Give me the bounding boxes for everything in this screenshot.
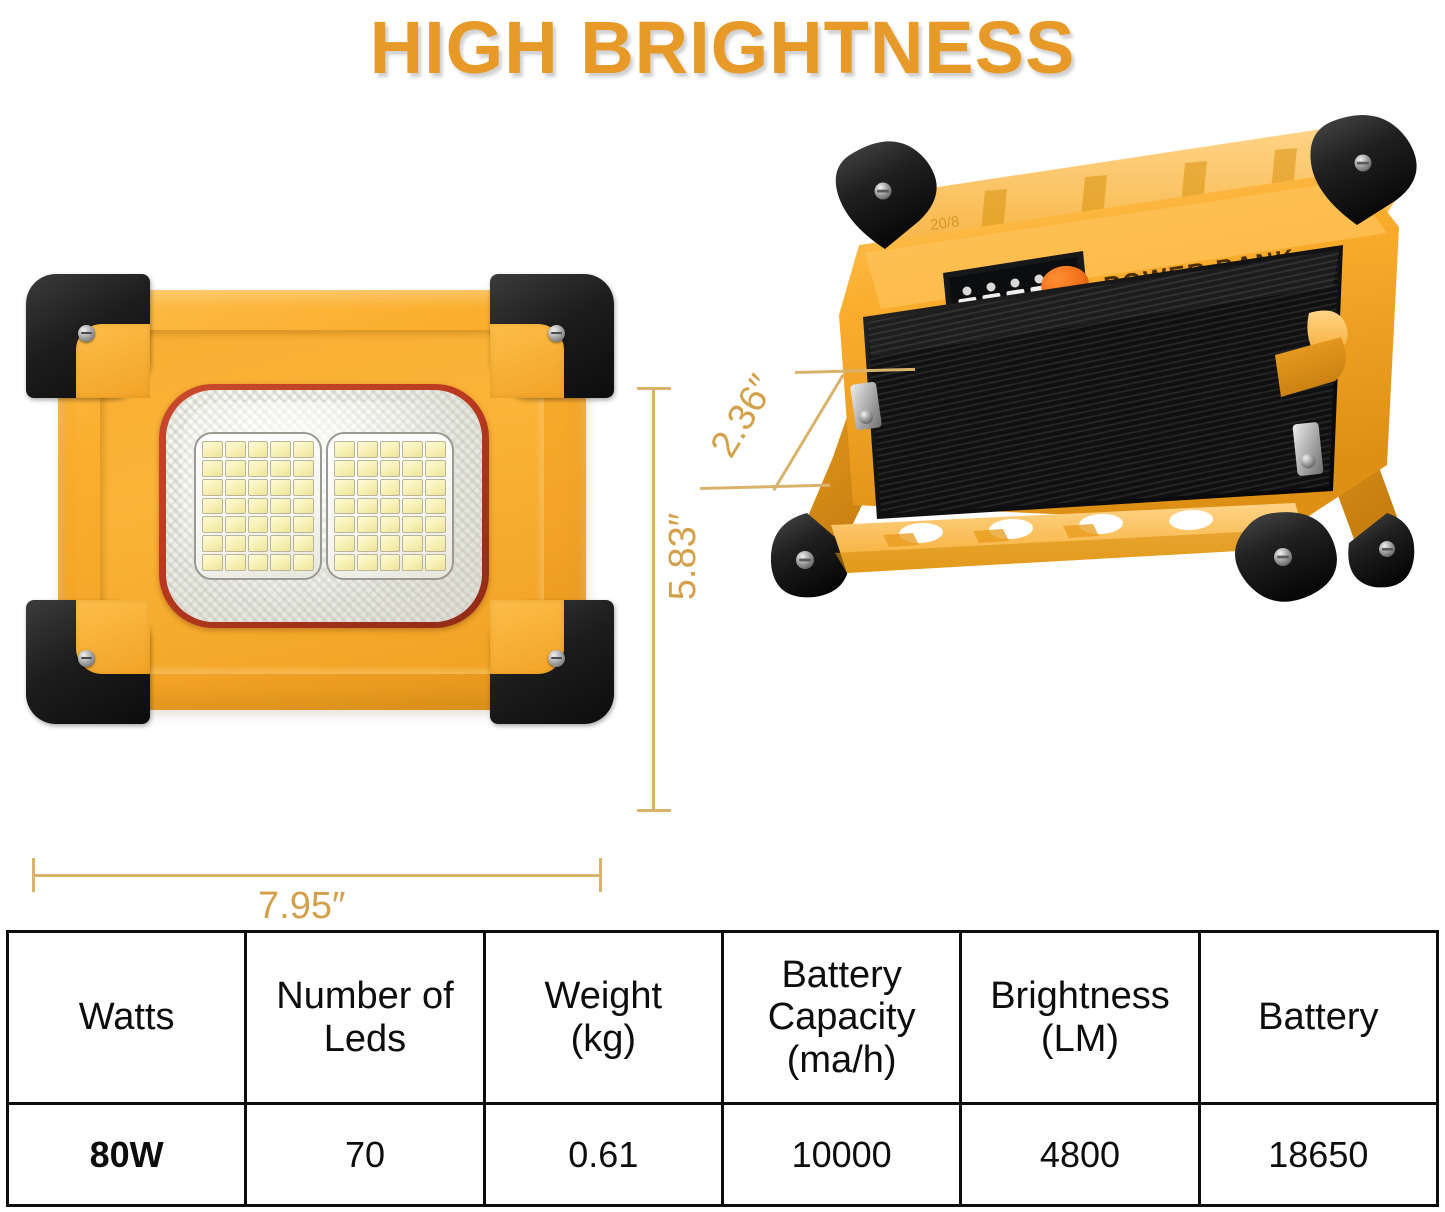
cell-battery: 18650 bbox=[1199, 1104, 1437, 1206]
led-chip bbox=[270, 498, 291, 515]
led-chip bbox=[270, 460, 291, 477]
height-tick-top bbox=[637, 387, 671, 390]
led-chip bbox=[225, 535, 246, 552]
led-chip bbox=[402, 516, 423, 533]
product-front-view bbox=[20, 270, 620, 730]
led-chip bbox=[334, 554, 355, 571]
led-chip bbox=[293, 460, 314, 477]
led-chip bbox=[225, 479, 246, 496]
led-chip bbox=[293, 535, 314, 552]
led-chip bbox=[402, 498, 423, 515]
led-chip bbox=[202, 535, 223, 552]
cell-weight: 0.61 bbox=[484, 1104, 722, 1206]
cell-watts: 80W bbox=[8, 1104, 246, 1206]
led-chip bbox=[380, 554, 401, 571]
led-chip bbox=[357, 479, 378, 496]
led-chip bbox=[270, 535, 291, 552]
led-chip bbox=[402, 441, 423, 458]
table-header-number-of-leds: Number ofLeds bbox=[246, 932, 484, 1104]
product-image-stage: 20/8 bbox=[0, 95, 1445, 930]
led-chip bbox=[202, 498, 223, 515]
product-back-view: 20/8 bbox=[735, 105, 1435, 615]
led-chip bbox=[357, 498, 378, 515]
table-header-weight: Weight(kg) bbox=[484, 932, 722, 1104]
led-chip bbox=[293, 479, 314, 496]
led-chip bbox=[357, 516, 378, 533]
led-module-right bbox=[326, 432, 454, 580]
led-chip bbox=[425, 479, 446, 496]
screw-icon bbox=[78, 325, 95, 342]
led-chip bbox=[248, 441, 269, 458]
led-chip bbox=[380, 479, 401, 496]
led-chip bbox=[425, 441, 446, 458]
led-chip bbox=[425, 460, 446, 477]
led-chip bbox=[293, 441, 314, 458]
screw-icon bbox=[548, 650, 565, 667]
led-chip bbox=[202, 441, 223, 458]
table-header-watts: Watts bbox=[8, 932, 246, 1104]
led-chip bbox=[380, 441, 401, 458]
led-chip bbox=[202, 479, 223, 496]
led-chip bbox=[380, 460, 401, 477]
led-chip bbox=[270, 516, 291, 533]
led-chip bbox=[357, 460, 378, 477]
led-chip bbox=[402, 535, 423, 552]
led-chip bbox=[270, 441, 291, 458]
led-chip bbox=[248, 498, 269, 515]
table-header-row: Watts Number ofLeds Weight(kg) BatteryCa… bbox=[8, 932, 1438, 1104]
led-chip bbox=[357, 554, 378, 571]
led-chip bbox=[380, 535, 401, 552]
led-chip bbox=[425, 554, 446, 571]
led-chip bbox=[248, 554, 269, 571]
led-chip bbox=[202, 554, 223, 571]
led-chip bbox=[402, 460, 423, 477]
led-chip bbox=[293, 554, 314, 571]
led-chip bbox=[225, 554, 246, 571]
led-chip bbox=[357, 535, 378, 552]
led-chip bbox=[402, 479, 423, 496]
screw-icon bbox=[78, 650, 95, 667]
led-chip bbox=[425, 516, 446, 533]
led-chip bbox=[202, 516, 223, 533]
led-chip bbox=[425, 498, 446, 515]
table-header-brightness: Brightness(LM) bbox=[961, 932, 1199, 1104]
height-dimension-label: 5.83″ bbox=[662, 513, 705, 600]
led-chip bbox=[225, 498, 246, 515]
screw-icon bbox=[548, 325, 565, 342]
lens-diffuser bbox=[166, 390, 482, 622]
led-chip bbox=[334, 498, 355, 515]
page-title: HIGH BRIGHTNESS bbox=[370, 11, 1076, 85]
led-chip bbox=[425, 535, 446, 552]
led-chip bbox=[248, 479, 269, 496]
led-chip bbox=[202, 460, 223, 477]
cell-brightness: 4800 bbox=[961, 1104, 1199, 1206]
cell-battery-capacity: 10000 bbox=[722, 1104, 960, 1206]
cell-number-of-leds: 70 bbox=[246, 1104, 484, 1206]
led-chip bbox=[293, 516, 314, 533]
led-chip bbox=[334, 441, 355, 458]
led-chip bbox=[334, 516, 355, 533]
led-chip bbox=[270, 479, 291, 496]
led-chip bbox=[270, 554, 291, 571]
led-chip bbox=[248, 516, 269, 533]
width-tick-left bbox=[32, 858, 35, 892]
table-row: 80W 70 0.61 10000 4800 18650 bbox=[8, 1104, 1438, 1206]
led-chip bbox=[380, 516, 401, 533]
title-bar: HIGH BRIGHTNESS bbox=[0, 0, 1445, 95]
led-chip bbox=[248, 460, 269, 477]
led-chip bbox=[334, 460, 355, 477]
table-header-battery: Battery bbox=[1199, 932, 1437, 1104]
led-chip bbox=[357, 441, 378, 458]
table-header-battery-capacity: BatteryCapacity(ma/h) bbox=[722, 932, 960, 1104]
led-module-left bbox=[194, 432, 322, 580]
led-chip bbox=[248, 535, 269, 552]
width-dimension-line bbox=[32, 874, 602, 877]
led-chip bbox=[334, 535, 355, 552]
width-tick-right bbox=[599, 858, 602, 892]
specification-table: Watts Number ofLeds Weight(kg) BatteryCa… bbox=[6, 930, 1439, 1207]
height-dimension-line bbox=[652, 388, 655, 810]
height-tick-bottom bbox=[637, 809, 671, 812]
width-dimension-label: 7.95″ bbox=[258, 885, 345, 928]
led-chip bbox=[402, 554, 423, 571]
led-chip bbox=[225, 516, 246, 533]
corner-cap-bottom-right bbox=[1235, 512, 1337, 602]
led-chip bbox=[380, 498, 401, 515]
led-chip bbox=[334, 479, 355, 496]
led-chip bbox=[293, 498, 314, 515]
led-chip bbox=[225, 441, 246, 458]
hinge-bracket-right bbox=[1292, 422, 1323, 476]
led-chip bbox=[225, 460, 246, 477]
